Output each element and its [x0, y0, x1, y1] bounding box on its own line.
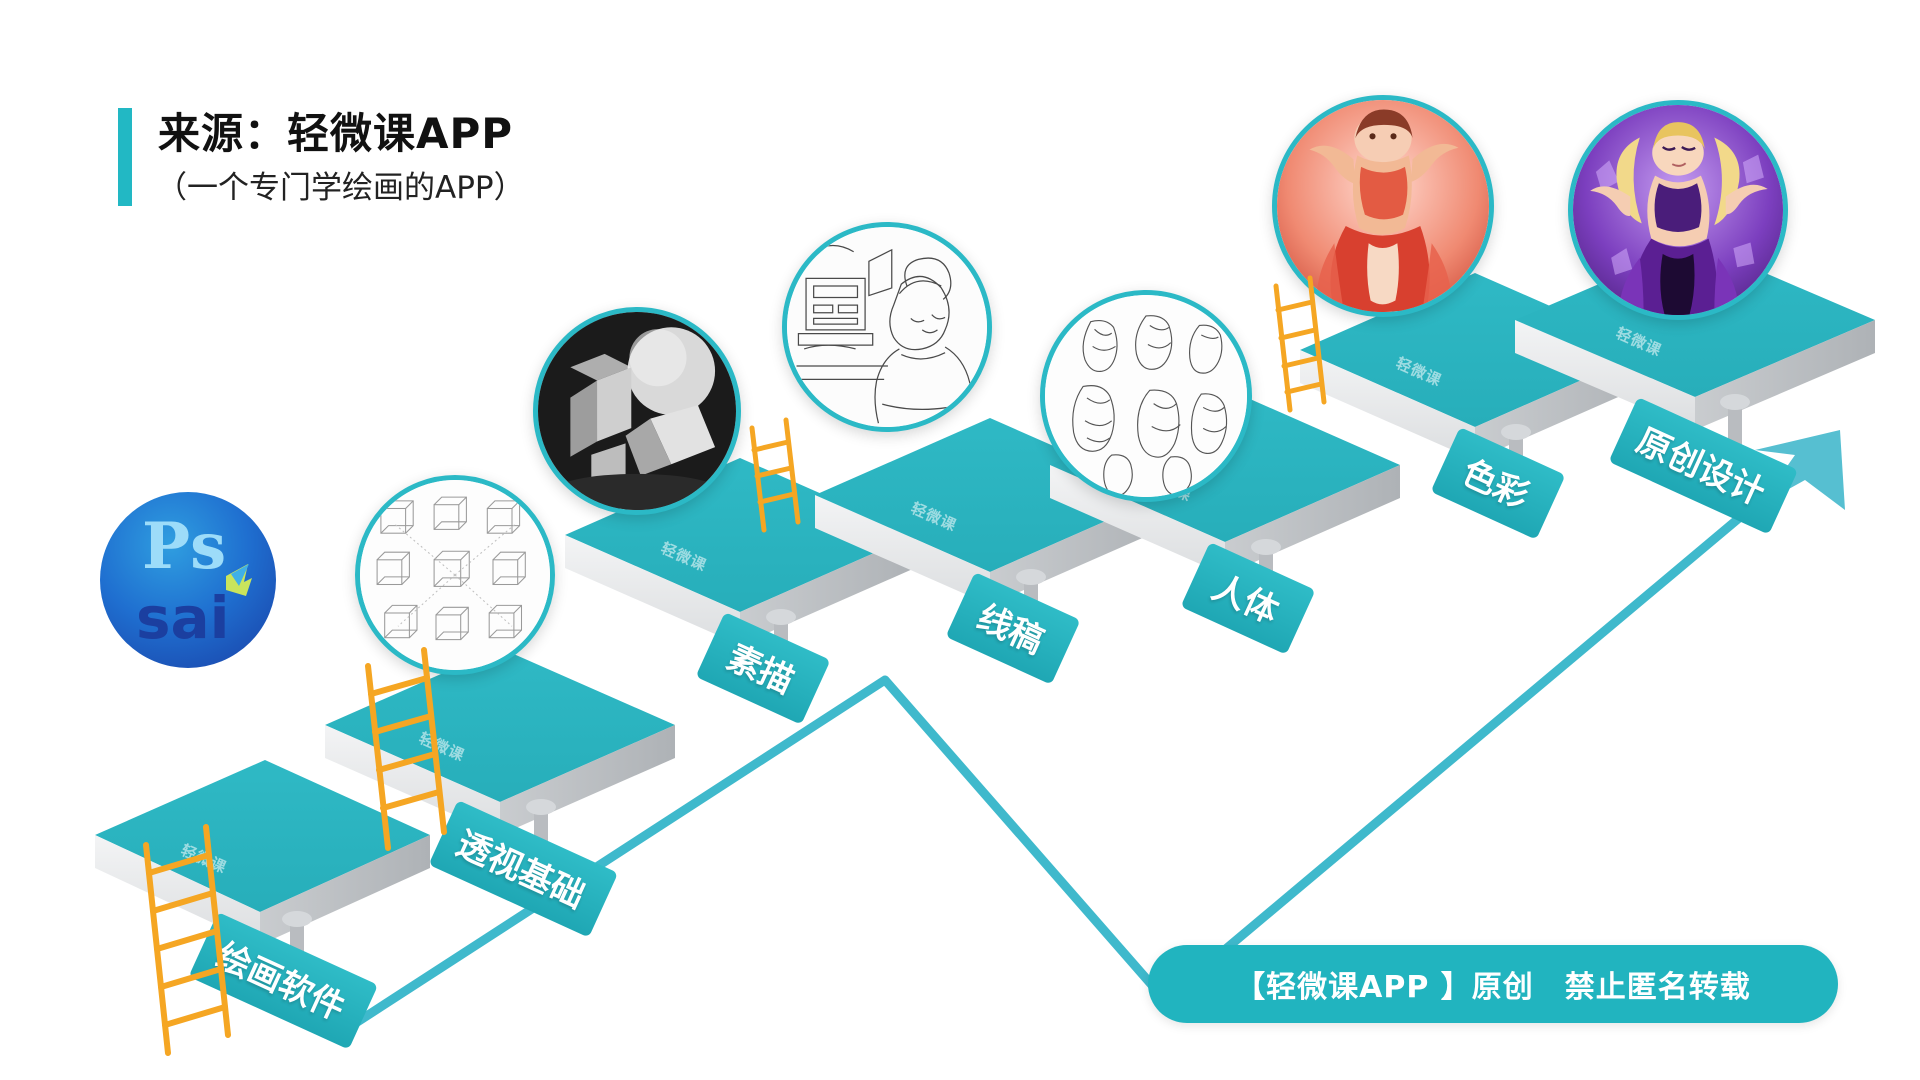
ladder-1: [128, 825, 258, 1065]
ladder-4: [1262, 278, 1332, 418]
purple-fantasy-character-icon: [1568, 100, 1788, 320]
ladder-2: [352, 648, 472, 858]
anatomy-torso-studies-icon: [1040, 290, 1252, 502]
ps-sai-logo: Ps sai: [98, 490, 278, 670]
svg-text:Ps: Ps: [142, 509, 226, 584]
ladder-3: [738, 418, 808, 538]
copyright-text: 【轻微课APP 】原创 禁止匿名转载: [1235, 962, 1751, 1006]
line-art-girl-icon: [782, 222, 992, 432]
perspective-cubes-icon: [355, 475, 555, 675]
accent-bar: [118, 108, 132, 206]
infographic-canvas: 来源：轻微课APP （一个专门学绘画的APP）: [0, 0, 1920, 1080]
grayscale-solids-sketch-icon: [533, 307, 741, 515]
svg-text:sai: sai: [136, 584, 230, 652]
copyright-banner: 【轻微课APP 】原创 禁止匿名转载: [1148, 945, 1838, 1023]
page-subtitle: （一个专门学绘画的APP）: [156, 162, 525, 207]
page-title: 来源：轻微课APP: [158, 100, 513, 161]
